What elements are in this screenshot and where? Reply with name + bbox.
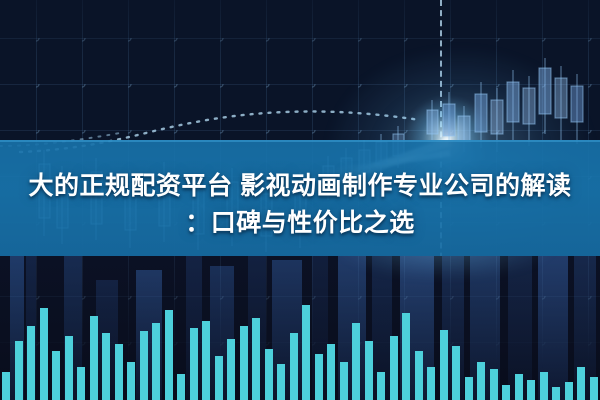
volume-bar xyxy=(77,367,85,400)
volume-bar xyxy=(252,318,260,400)
volume-bar xyxy=(152,323,160,400)
volume-bar xyxy=(565,382,573,400)
volume-bar xyxy=(102,333,110,400)
banner-image: 大的正规配资平台 影视动画制作专业公司的解读 ：口碑与性价比之选 xyxy=(0,0,600,400)
volume-bar xyxy=(15,341,23,400)
volume-bar xyxy=(165,310,173,400)
volume-bar xyxy=(315,354,323,400)
page-title: 大的正规配资平台 影视动画制作专业公司的解读 ：口碑与性价比之选 xyxy=(0,168,600,242)
volume-bar xyxy=(302,305,310,400)
volume-bar xyxy=(340,362,348,400)
volume-bar xyxy=(502,385,510,400)
volume-bar xyxy=(365,341,373,400)
volume-bar xyxy=(402,313,410,400)
volume-bar xyxy=(427,367,435,400)
volume-bar xyxy=(577,367,585,400)
volume-bar xyxy=(90,316,98,400)
volume-bar xyxy=(177,374,185,400)
volume-bar xyxy=(377,372,385,400)
volume-bar xyxy=(52,351,60,400)
volume-bar xyxy=(515,374,523,400)
volume-bar xyxy=(290,333,298,400)
volume-bar xyxy=(477,362,485,400)
volume-bar xyxy=(2,372,10,400)
volume-bar xyxy=(140,331,148,400)
volume-bar xyxy=(277,364,285,400)
volume-bar xyxy=(215,356,223,400)
volume-bar xyxy=(27,326,35,400)
volume-bar xyxy=(127,362,135,400)
volume-bar xyxy=(440,330,448,400)
volume-bar xyxy=(465,377,473,400)
volume-bar xyxy=(227,339,235,400)
volume-bar xyxy=(415,351,423,400)
volume-bar xyxy=(265,349,273,400)
volume-bar xyxy=(590,377,598,400)
title-band-top-edge xyxy=(0,140,600,142)
volume-bar xyxy=(390,336,398,400)
volume-bar xyxy=(527,380,535,400)
volume-bar xyxy=(452,346,460,400)
volume-bar xyxy=(65,336,73,400)
volume-bar xyxy=(115,344,123,400)
volume-bar xyxy=(240,326,248,400)
volume-bar xyxy=(490,369,498,400)
volume-chart-area xyxy=(0,256,600,400)
volume-bar xyxy=(202,321,210,400)
volume-bar xyxy=(190,328,198,400)
volume-glow xyxy=(330,256,560,280)
volume-bar xyxy=(540,372,548,400)
volume-bar xyxy=(352,323,360,400)
volume-bar xyxy=(552,387,560,400)
volume-bar xyxy=(40,308,48,400)
volume-bar xyxy=(327,344,335,400)
